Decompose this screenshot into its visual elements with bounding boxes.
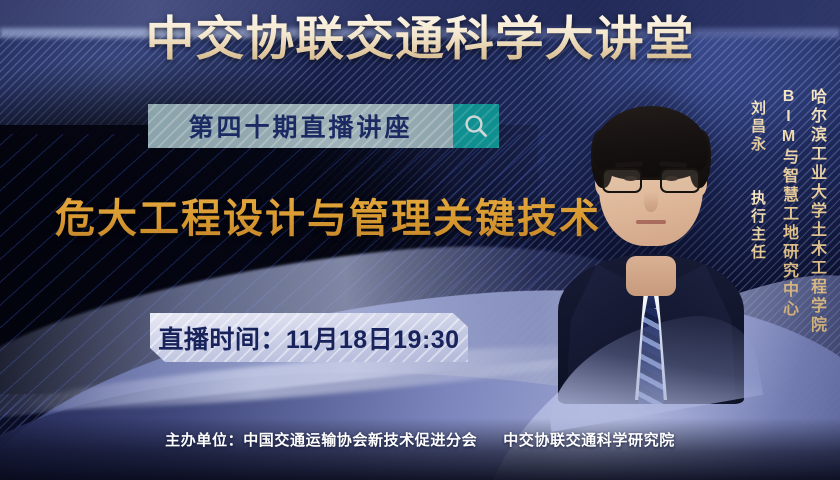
- poster-title: 中交协联交通科学大讲堂: [145, 13, 694, 66]
- portrait-mouth: [636, 220, 666, 224]
- livestream-time-text: 直播时间：11月18日19:30: [158, 320, 459, 356]
- glasses-bridge: [642, 177, 660, 180]
- footer-prefix: 主办单位：: [165, 432, 243, 449]
- portrait-neck: [626, 256, 676, 296]
- footer-organizers: 主办单位：中国交通运输协会新技术促进分会中交协联交通科学研究院: [0, 429, 840, 450]
- search-icon[interactable]: [453, 104, 499, 148]
- speaker-org-line1: 哈尔滨工业大学土木工程学院: [804, 88, 828, 335]
- footer-org1: 中国交通运输协会新技术促进分会: [243, 432, 477, 449]
- glasses-lens-left: [602, 168, 642, 193]
- portrait-nose: [644, 192, 658, 212]
- livestream-poster: 中交协联交通科学大讲堂 第四十期直播讲座 危大工程设计与管理关键技术 直播时间：…: [0, 0, 840, 480]
- subtitle-label: 第四十期直播讲座: [188, 108, 412, 144]
- subtitle-bar: 第四十期直播讲座: [148, 104, 453, 148]
- speaker-role: 执行主任: [747, 190, 768, 262]
- speaker-name: 刘昌永: [747, 100, 768, 154]
- portrait-glasses: [602, 168, 700, 194]
- footer-org2: 中交协联交通科学研究院: [503, 432, 675, 449]
- speaker-org-line2: BIM与智慧工地研究中心: [776, 88, 800, 319]
- lecture-headline: 危大工程设计与管理关键技术: [55, 186, 601, 244]
- glasses-lens-right: [660, 168, 700, 193]
- livestream-time-plate: 直播时间：11月18日19:30: [150, 313, 468, 362]
- title-container: 中交协联交通科学大讲堂: [0, 13, 840, 66]
- subtitle-row: 第四十期直播讲座: [148, 104, 499, 148]
